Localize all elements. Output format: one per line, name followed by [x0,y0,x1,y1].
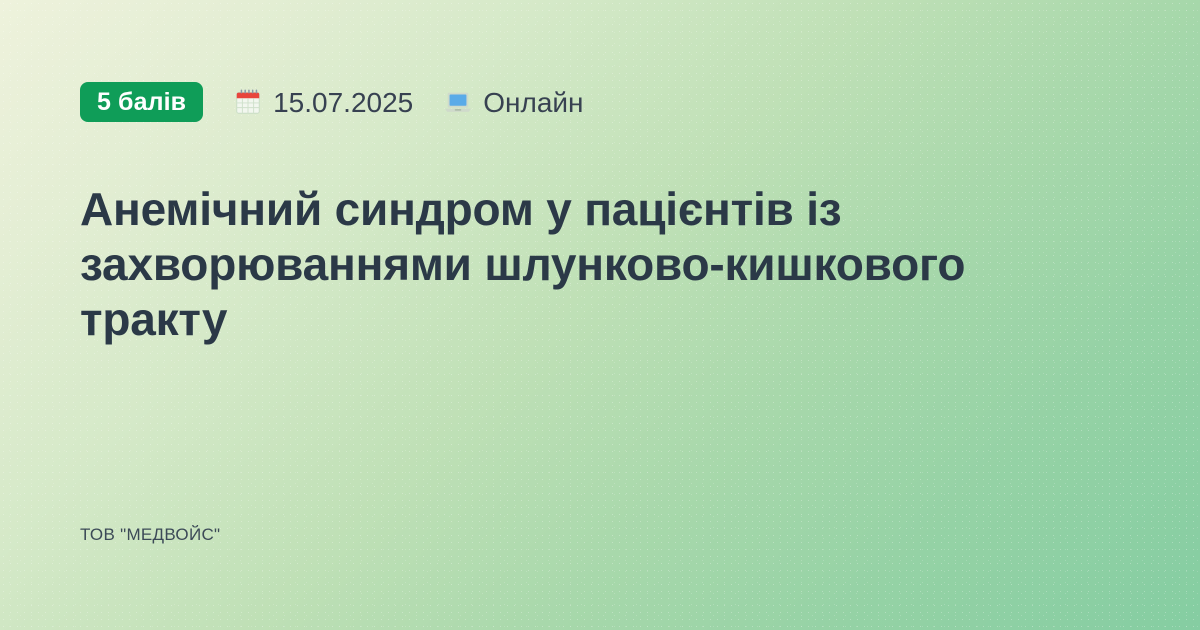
laptop-icon [443,87,473,117]
event-format: Онлайн [443,87,583,117]
organizer-name: ТОВ "МЕДВОЙС" [80,524,220,546]
event-format-value: Онлайн [483,89,583,117]
event-title: Анемічний синдром у пацієнтів із захворю… [80,182,1040,347]
event-card: 5 балів 15.07.2025 [0,0,1200,630]
event-meta-row: 5 балів 15.07.2025 [80,82,584,122]
calendar-icon [233,87,263,117]
event-date: 15.07.2025 [233,87,413,117]
points-badge: 5 балів [80,82,203,122]
event-date-value: 15.07.2025 [273,89,413,117]
card-content: 5 балів 15.07.2025 [0,0,1200,630]
